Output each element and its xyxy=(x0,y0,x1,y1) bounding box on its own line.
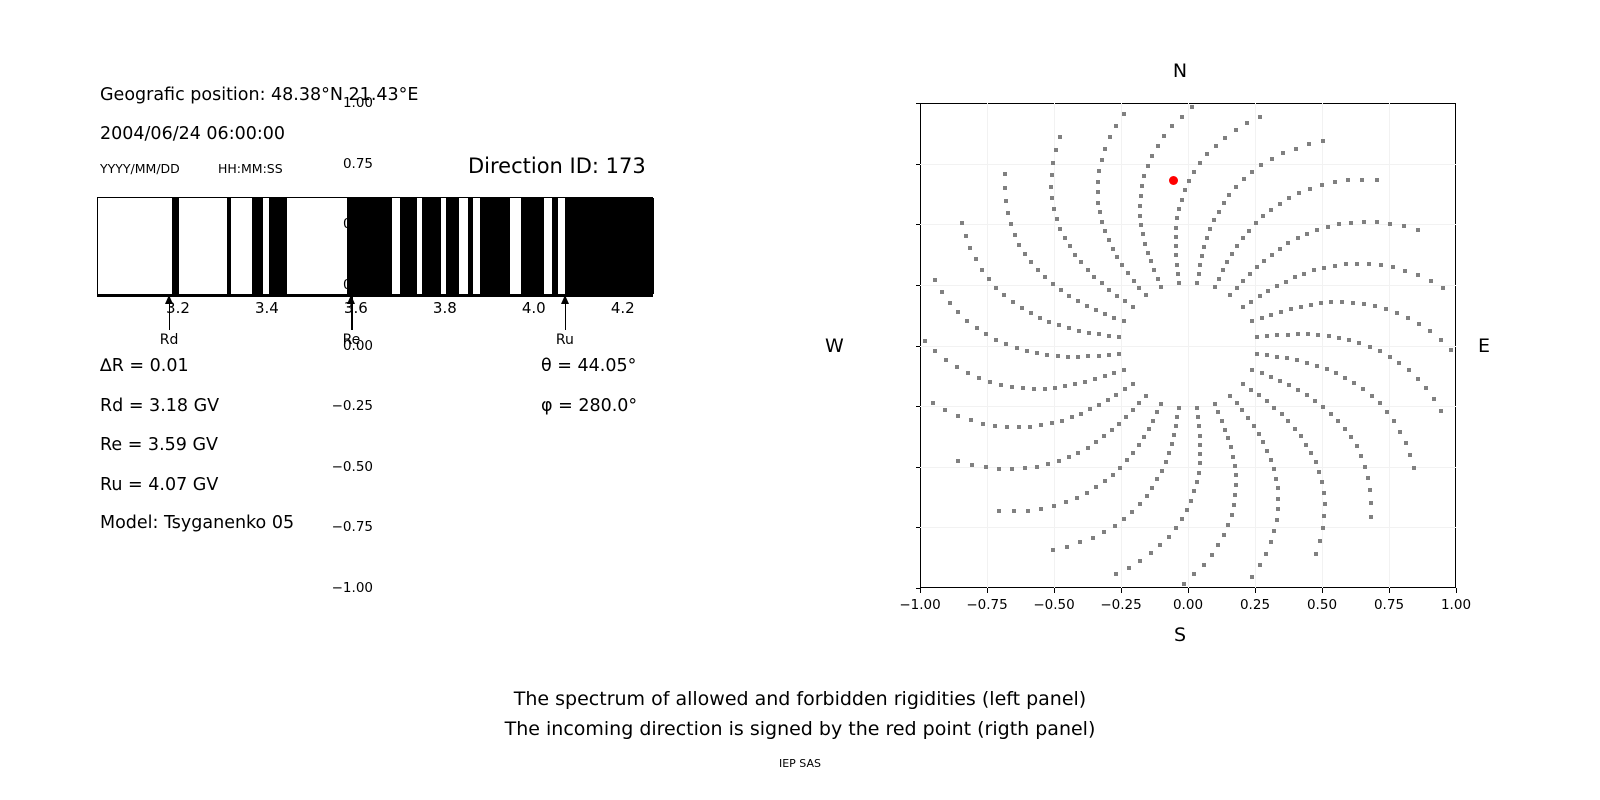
scatter-point xyxy=(1067,326,1071,330)
scatter-point xyxy=(1323,502,1327,506)
scatter-point xyxy=(1302,272,1306,276)
scatter-point xyxy=(1162,134,1166,138)
marker-label: Ru xyxy=(556,332,574,348)
scatter-point xyxy=(1321,526,1325,530)
scatter-point xyxy=(1255,335,1259,339)
scatter-point xyxy=(964,234,968,238)
scatter-point xyxy=(997,467,1001,471)
scatter-point xyxy=(1250,170,1254,174)
scatter-point xyxy=(1258,294,1262,298)
forbidden-band xyxy=(446,198,459,294)
scatter-point xyxy=(1158,543,1162,547)
scatter-point xyxy=(1185,508,1189,512)
y-tickmark xyxy=(916,406,921,407)
scatter-point xyxy=(1177,281,1181,285)
scatter-point xyxy=(1327,334,1331,338)
scatter-point xyxy=(1139,223,1143,227)
scatter-point xyxy=(1102,434,1106,438)
scatter-point xyxy=(1216,543,1220,547)
direction-id-text: Direction ID: 173 xyxy=(468,154,646,178)
scatter-point xyxy=(1378,349,1382,353)
forbidden-band xyxy=(252,198,263,294)
scatter-point xyxy=(1192,170,1196,174)
scatter-point xyxy=(1287,383,1291,387)
scatter-point xyxy=(1406,316,1410,320)
scatter-point xyxy=(1086,446,1090,450)
scatter-point xyxy=(1183,188,1187,192)
scatter-point xyxy=(1221,268,1225,272)
scatter-point xyxy=(1220,419,1224,423)
scatter-point xyxy=(1139,194,1143,198)
scatter-point xyxy=(956,310,960,314)
scatter-point xyxy=(1122,517,1126,521)
scatter-point xyxy=(923,339,927,343)
scatter-point xyxy=(1012,509,1016,513)
scatter-point xyxy=(1286,419,1290,423)
scatter-point xyxy=(1077,329,1081,333)
scatter-point xyxy=(1096,190,1100,194)
y-tick-label: −0.25 xyxy=(332,398,373,414)
rigidity-spectrum-bar xyxy=(97,197,653,295)
scatter-point xyxy=(1306,332,1310,336)
scatter-point xyxy=(1039,423,1043,427)
scatter-point xyxy=(1408,453,1412,457)
scatter-point xyxy=(940,290,944,294)
scatter-point xyxy=(1073,382,1077,386)
scatter-point xyxy=(987,277,991,281)
scatter-point xyxy=(960,221,964,225)
scatter-point xyxy=(1361,387,1365,391)
forbidden-band xyxy=(480,198,510,294)
scatter-point xyxy=(1122,368,1126,372)
scatter-point xyxy=(1289,307,1293,311)
scatter-point xyxy=(1100,158,1104,162)
scatter-point xyxy=(1189,499,1193,503)
x-tick-label: −0.50 xyxy=(1033,597,1074,613)
scatter-point xyxy=(1093,377,1097,381)
scatter-point xyxy=(1369,515,1373,519)
scatter-point xyxy=(1059,288,1063,292)
scatter-point xyxy=(1088,407,1092,411)
scatter-point xyxy=(1295,358,1299,362)
scatter-point xyxy=(1346,178,1350,182)
scatter-point xyxy=(1217,210,1221,214)
y-tickmark xyxy=(916,103,921,104)
forbidden-band xyxy=(422,198,441,294)
scatter-point xyxy=(1096,201,1100,205)
forbidden-band xyxy=(400,198,418,294)
scatter-point xyxy=(1107,238,1111,242)
param-model: Model: Tsyganenko 05 xyxy=(100,513,294,533)
y-tick-label: 0.50 xyxy=(343,216,373,232)
scatter-point xyxy=(1322,491,1326,495)
scatter-point xyxy=(1234,128,1238,132)
scatter-point xyxy=(1130,510,1134,514)
scatter-point xyxy=(1388,222,1392,226)
scatter-point xyxy=(1004,342,1008,346)
scatter-point xyxy=(1355,262,1359,266)
scatter-point xyxy=(1067,294,1071,298)
scatter-point xyxy=(1241,279,1245,283)
scatter-point xyxy=(1114,124,1118,128)
scatter-point xyxy=(1202,563,1206,567)
scatter-point xyxy=(1028,425,1032,429)
scatter-point xyxy=(1124,415,1128,419)
scatter-point xyxy=(970,463,974,467)
scatter-point xyxy=(981,422,985,426)
scatter-point xyxy=(1085,491,1089,495)
scatter-point xyxy=(1036,268,1040,272)
param-rd: Rd = 3.18 GV xyxy=(100,396,219,416)
scatter-point xyxy=(1272,529,1276,533)
scatter-point xyxy=(1100,281,1104,285)
scatter-point xyxy=(1066,355,1070,359)
scatter-point xyxy=(1329,300,1333,304)
scatter-point xyxy=(1367,262,1371,266)
scatter-point xyxy=(955,365,959,369)
scatter-point xyxy=(1293,275,1297,279)
scatter-point xyxy=(1307,142,1311,146)
rigidity-axis-line xyxy=(97,295,653,297)
scatter-point xyxy=(1226,523,1230,527)
scatter-point xyxy=(1198,434,1202,438)
scatter-point xyxy=(1225,260,1229,264)
scatter-point xyxy=(1378,401,1382,405)
scatter-point xyxy=(1143,242,1147,246)
caption-line-1: The spectrum of allowed and forbidden ri… xyxy=(514,688,1086,710)
x-tickmark xyxy=(1456,588,1457,593)
scatter-point xyxy=(1304,443,1308,447)
scatter-point xyxy=(1131,305,1135,309)
scatter-point xyxy=(933,349,937,353)
scatter-point xyxy=(1112,316,1116,320)
x-tickmark xyxy=(987,588,988,593)
scatter-point xyxy=(1170,442,1174,446)
scatter-point xyxy=(1138,204,1142,208)
scatter-point xyxy=(1115,294,1119,298)
scatter-point xyxy=(1439,338,1443,342)
scatter-point xyxy=(1245,121,1249,125)
scatter-point xyxy=(1373,304,1377,308)
scatter-point xyxy=(1097,169,1101,173)
scatter-point xyxy=(1276,497,1280,501)
scatter-point xyxy=(1246,416,1250,420)
scatter-point xyxy=(1038,316,1042,320)
scatter-point xyxy=(1151,419,1155,423)
y-tickmark xyxy=(916,527,921,528)
scatter-point xyxy=(1214,144,1218,148)
scatter-point xyxy=(1299,305,1303,309)
scatter-point xyxy=(968,246,972,250)
x-tick-label: 0.75 xyxy=(1374,597,1404,613)
scatter-point xyxy=(1045,353,1049,357)
scatter-point xyxy=(1076,299,1080,303)
scatter-point xyxy=(931,401,935,405)
scatter-point xyxy=(1296,332,1300,336)
compass-south-label: S xyxy=(1174,624,1186,646)
y-tickmark xyxy=(916,467,921,468)
scatter-point xyxy=(1250,575,1254,579)
scatter-point xyxy=(1123,387,1127,391)
scatter-point xyxy=(1360,178,1364,182)
scatter-point xyxy=(1227,193,1231,197)
scatter-point xyxy=(1259,163,1263,167)
forbidden-band xyxy=(521,198,545,294)
scatter-point xyxy=(1241,236,1245,240)
scatter-point xyxy=(1149,551,1153,555)
param-delta-r: ∆R = 0.01 xyxy=(100,356,189,376)
scatter-point xyxy=(1265,449,1269,453)
scatter-point xyxy=(1363,465,1367,469)
scatter-point xyxy=(1252,424,1256,428)
scatter-point xyxy=(956,414,960,418)
scatter-point xyxy=(1056,354,1060,358)
scatter-point xyxy=(977,376,981,380)
scatter-point xyxy=(1177,406,1181,410)
scatter-point xyxy=(1197,424,1201,428)
scatter-point xyxy=(1217,277,1221,281)
scatter-point xyxy=(1284,280,1288,284)
scatter-point xyxy=(1235,244,1239,248)
scatter-point xyxy=(1357,341,1361,345)
scatter-point xyxy=(1344,262,1348,266)
scatter-point xyxy=(1212,218,1216,222)
scatter-point xyxy=(1023,252,1027,256)
scatter-point xyxy=(1159,402,1163,406)
scatter-point xyxy=(1265,334,1269,338)
scatter-point xyxy=(1117,422,1121,426)
scatter-point xyxy=(1043,387,1047,391)
scatter-point xyxy=(1416,273,1420,277)
scatter-point xyxy=(1180,198,1184,202)
scatter-point xyxy=(1111,473,1115,477)
marker-label: Rd xyxy=(160,332,179,348)
scatter-point xyxy=(1223,136,1227,140)
scatter-point xyxy=(1326,225,1330,229)
scatter-point xyxy=(1315,364,1319,368)
scatter-point xyxy=(1114,393,1118,397)
scatter-point xyxy=(1094,308,1098,312)
scatter-point xyxy=(1138,502,1142,506)
scatter-point xyxy=(1316,333,1320,337)
scatter-point xyxy=(1052,207,1056,211)
scatter-point xyxy=(1347,338,1351,342)
compass-west-label: W xyxy=(825,335,844,357)
scatter-point xyxy=(1432,397,1436,401)
scatter-point xyxy=(969,418,973,422)
scatter-point xyxy=(1006,211,1010,215)
scatter-point xyxy=(1370,394,1374,398)
scatter-point xyxy=(1226,436,1230,440)
scatter-point xyxy=(1079,260,1083,264)
scatter-point xyxy=(1086,354,1090,358)
y-tickmark xyxy=(916,285,921,286)
scatter-point xyxy=(1172,433,1176,437)
scatter-point xyxy=(1051,161,1055,165)
scatter-point xyxy=(1429,279,1433,283)
scatter-point xyxy=(1321,405,1325,409)
scatter-point xyxy=(997,509,1001,513)
scatter-point xyxy=(1385,410,1389,414)
scatter-point xyxy=(1050,173,1054,177)
scatter-point xyxy=(1050,421,1054,425)
scatter-point xyxy=(1234,473,1238,477)
scatter-point xyxy=(1333,264,1337,268)
scatter-point xyxy=(1174,235,1178,239)
scatter-point xyxy=(1122,112,1126,116)
x-tickmark xyxy=(1121,588,1122,593)
scatter-point xyxy=(1150,154,1154,158)
scatter-point xyxy=(1063,236,1067,240)
scatter-point xyxy=(993,424,997,428)
scatter-point xyxy=(1114,572,1118,576)
scatter-point xyxy=(1175,415,1179,419)
scatter-point xyxy=(1127,566,1131,570)
scatter-point xyxy=(1180,517,1184,521)
scatter-point xyxy=(1015,346,1019,350)
scatter-point xyxy=(1404,441,1408,445)
scatter-point xyxy=(1320,480,1324,484)
scatter-point xyxy=(1086,268,1090,272)
scatter-point xyxy=(1055,217,1059,221)
scatter-point xyxy=(1315,228,1319,232)
y-tickmark xyxy=(916,224,921,225)
scatter-point xyxy=(1322,266,1326,270)
scatter-point xyxy=(1439,409,1443,413)
scatter-point xyxy=(1021,386,1025,390)
scatter-point xyxy=(1035,465,1039,469)
scatter-point xyxy=(1003,186,1007,190)
scatter-point xyxy=(1026,509,1030,513)
scatter-point xyxy=(1198,443,1202,447)
scatter-point xyxy=(974,257,978,261)
scatter-point xyxy=(1287,196,1291,200)
scatter-point xyxy=(1262,259,1266,263)
scatter-point xyxy=(1278,379,1282,383)
scatter-point xyxy=(1309,451,1313,455)
scatter-point xyxy=(1223,428,1227,432)
scatter-point xyxy=(1039,507,1043,511)
scatter-point xyxy=(1142,174,1146,178)
scatter-point xyxy=(1097,332,1101,336)
scatter-point xyxy=(1368,345,1372,349)
scatter-point xyxy=(1004,199,1008,203)
scatter-point xyxy=(1111,247,1115,251)
scatter-point xyxy=(1195,406,1199,410)
scatter-point xyxy=(1198,461,1202,465)
scatter-point xyxy=(1108,135,1112,139)
scatter-point xyxy=(1017,425,1021,429)
scatter-point xyxy=(1319,301,1323,305)
scatter-point xyxy=(1205,236,1209,240)
scatter-point xyxy=(1103,147,1107,151)
scatter-point xyxy=(1118,466,1122,470)
scatter-point xyxy=(1123,299,1127,303)
scatter-point xyxy=(980,268,984,272)
scatter-point xyxy=(1391,265,1395,269)
scatter-point xyxy=(1305,361,1309,365)
scatter-point xyxy=(1159,285,1163,289)
y-tickmark xyxy=(916,346,921,347)
scatter-point xyxy=(1275,333,1279,337)
scatter-point xyxy=(1398,430,1402,434)
scatter-point xyxy=(1009,222,1013,226)
scatter-point xyxy=(1032,387,1036,391)
scatter-points xyxy=(920,103,1456,588)
x-tick-label: −1.00 xyxy=(899,597,940,613)
scatter-point xyxy=(1362,220,1366,224)
scatter-point xyxy=(1234,483,1238,487)
scatter-point xyxy=(1362,302,1366,306)
scatter-point xyxy=(1242,177,1246,181)
scatter-point xyxy=(1321,139,1325,143)
scatter-point xyxy=(1156,144,1160,148)
scatter-point xyxy=(1314,552,1318,556)
forbidden-band xyxy=(269,198,287,294)
x-tick-label: 1.00 xyxy=(1441,597,1471,613)
scatter-point xyxy=(1210,553,1214,557)
scatter-point xyxy=(1107,334,1111,338)
scatter-point xyxy=(1276,486,1280,490)
scatter-point xyxy=(1403,269,1407,273)
scatter-point xyxy=(1343,427,1347,431)
scatter-point xyxy=(1261,440,1265,444)
y-tick-label: −0.50 xyxy=(332,459,373,475)
scatter-point xyxy=(1096,180,1100,184)
scatter-point xyxy=(1167,535,1171,539)
scatter-point xyxy=(1352,381,1356,385)
marker-arrow-icon xyxy=(165,295,173,304)
scatter-point xyxy=(1258,115,1262,119)
rigidity-tick-label: 3.4 xyxy=(255,299,279,317)
scatter-point xyxy=(1296,388,1300,392)
scatter-point xyxy=(1091,536,1095,540)
scatter-point xyxy=(966,371,970,375)
x-tick-label: 0.25 xyxy=(1240,597,1270,613)
scatter-point xyxy=(1187,179,1191,183)
scatter-point xyxy=(1107,353,1111,357)
scatter-point xyxy=(1296,236,1300,240)
scatter-point xyxy=(1340,300,1344,304)
scatter-point xyxy=(1144,394,1148,398)
scatter-point xyxy=(933,278,937,282)
forbidden-band xyxy=(468,198,473,294)
scatter-point xyxy=(1170,124,1174,128)
scatter-point xyxy=(1368,488,1372,492)
scatter-point xyxy=(1286,241,1290,245)
scatter-point xyxy=(1397,361,1401,365)
x-tick-label: −0.25 xyxy=(1100,597,1141,613)
scatter-point xyxy=(1115,255,1119,259)
scatter-point xyxy=(1145,494,1149,498)
scatter-point xyxy=(1234,185,1238,189)
scatter-point xyxy=(1067,455,1071,459)
caption-line-2: The incoming direction is signed by the … xyxy=(505,718,1096,740)
scatter-point xyxy=(1013,233,1017,237)
scatter-point xyxy=(1280,412,1284,416)
scatter-point xyxy=(1054,148,1058,152)
x-tickmark xyxy=(1389,588,1390,593)
scatter-point xyxy=(1248,272,1252,276)
scatter-point xyxy=(1281,151,1285,155)
scatter-point xyxy=(1305,232,1309,236)
forbidden-band xyxy=(552,198,558,294)
scatter-point xyxy=(1195,281,1199,285)
scatter-point xyxy=(956,459,960,463)
scatter-point xyxy=(1334,371,1338,375)
scatter-point xyxy=(1023,466,1027,470)
scatter-point xyxy=(1102,530,1106,534)
